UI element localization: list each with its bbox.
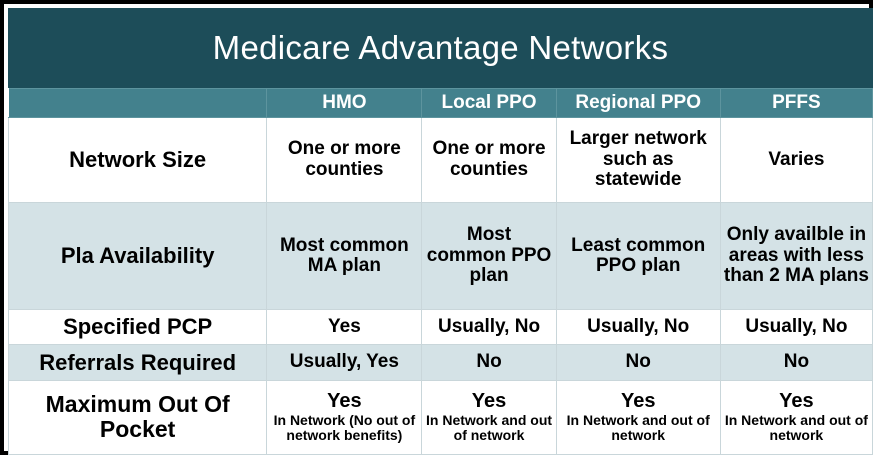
cell-referrals-required-hmo: Usually, Yes [267,345,422,380]
cell-max-oop-pffs: Yes In Network and out of network [720,380,872,454]
cell-max-oop-pffs-note: In Network and out of network [724,413,869,444]
cell-max-oop-regional-ppo-value: Yes [560,391,717,412]
cell-specified-pcp-pffs: Usually, No [720,310,872,345]
row-label-maximum-out-of-pocket: Maximum Out Of Pocket [9,380,267,454]
content-area: Medicare Advantage Networks HMO Local PP… [8,8,873,455]
cell-specified-pcp-regional-ppo: Usually, No [556,310,720,345]
cell-max-oop-hmo-note: In Network (No out of network benefits) [270,413,418,444]
table-row: Specified PCP Yes Usually, No Usually, N… [9,310,873,345]
column-header-regional-ppo: Regional PPO [556,89,720,118]
cell-pla-availability-local-ppo: Most common PPO plan [422,202,556,310]
cell-specified-pcp-local-ppo: Usually, No [422,310,556,345]
row-label-specified-pcp: Specified PCP [9,310,267,345]
cell-network-size-local-ppo: One or more counties [422,118,556,203]
title-banner: Medicare Advantage Networks [8,8,873,88]
cell-pla-availability-regional-ppo: Least common PPO plan [556,202,720,310]
table-row: Network Size One or more counties One or… [9,118,873,203]
table-corner-cell [9,89,267,118]
row-label-pla-availability: Pla Availability [9,202,267,310]
outer-border: Medicare Advantage Networks HMO Local PP… [0,0,873,455]
row-label-network-size: Network Size [9,118,267,203]
cell-max-oop-local-ppo-value: Yes [425,391,552,412]
cell-max-oop-local-ppo-note: In Network and out of network [425,413,552,444]
cell-max-oop-local-ppo: Yes In Network and out of network [422,380,556,454]
table-row: Pla Availability Most common MA plan Mos… [9,202,873,310]
cell-network-size-pffs: Varies [720,118,872,203]
table-header: HMO Local PPO Regional PPO PFFS [9,89,873,118]
table-header-row: HMO Local PPO Regional PPO PFFS [9,89,873,118]
row-label-referrals-required: Referrals Required [9,345,267,380]
column-header-local-ppo: Local PPO [422,89,556,118]
table-body: Network Size One or more counties One or… [9,118,873,455]
cell-referrals-required-regional-ppo: No [556,345,720,380]
slide-page: Medicare Advantage Networks HMO Local PP… [0,0,873,455]
table-row: Maximum Out Of Pocket Yes In Network (No… [9,380,873,454]
cell-max-oop-regional-ppo: Yes In Network and out of network [556,380,720,454]
cell-max-oop-hmo-value: Yes [270,391,418,412]
column-header-hmo: HMO [267,89,422,118]
cell-max-oop-pffs-value: Yes [724,391,869,412]
page-title: Medicare Advantage Networks [213,29,669,67]
cell-referrals-required-local-ppo: No [422,345,556,380]
cell-max-oop-hmo: Yes In Network (No out of network benefi… [267,380,422,454]
cell-referrals-required-pffs: No [720,345,872,380]
column-header-pffs: PFFS [720,89,872,118]
cell-pla-availability-pffs: Only availble in areas with less than 2 … [720,202,872,310]
cell-network-size-regional-ppo: Larger network such as statewide [556,118,720,203]
comparison-table: HMO Local PPO Regional PPO PFFS Network … [8,88,873,455]
cell-max-oop-regional-ppo-note: In Network and out of network [560,413,717,444]
cell-specified-pcp-hmo: Yes [267,310,422,345]
table-row: Referrals Required Usually, Yes No No No [9,345,873,380]
cell-network-size-hmo: One or more counties [267,118,422,203]
cell-pla-availability-hmo: Most common MA plan [267,202,422,310]
